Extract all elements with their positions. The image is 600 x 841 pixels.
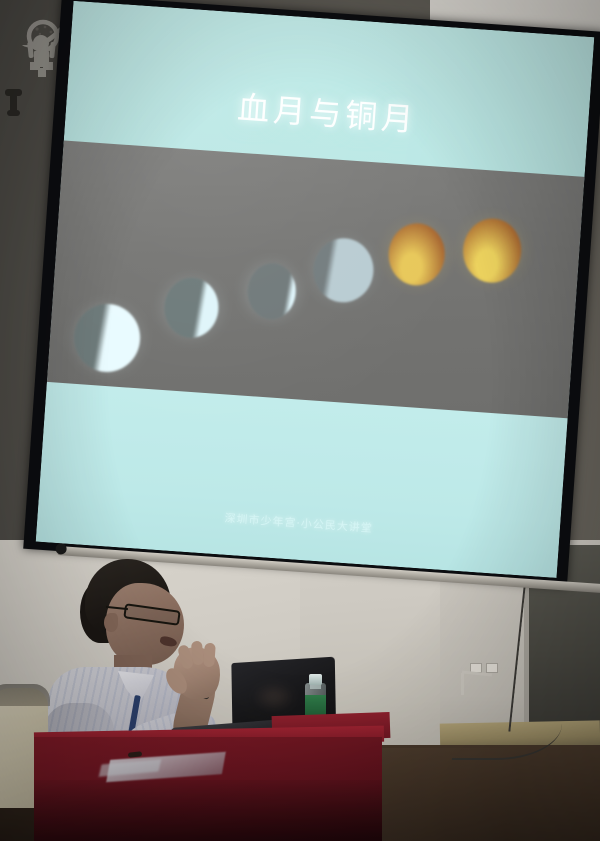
finger bbox=[191, 640, 204, 665]
ear bbox=[104, 613, 118, 632]
presentation-slide: 血月与铜月 深圳市少年宫·小公民大讲堂 bbox=[36, 1, 595, 578]
photo-scene: 血月与铜月 深圳市少年宫·小公民大讲堂 bbox=[0, 0, 600, 841]
water-bottle-label bbox=[305, 695, 326, 716]
laptop-lid-sheen bbox=[252, 682, 296, 712]
projection-screen-surface: 血月与铜月 深圳市少年宫·小公民大讲堂 bbox=[36, 1, 595, 578]
projection-screen-border: 血月与铜月 深圳市少年宫·小公民大讲堂 bbox=[23, 0, 600, 587]
water-bottle-cap[interactable] bbox=[309, 674, 322, 685]
outlet-conduit-vertical bbox=[461, 673, 464, 695]
table-shadow bbox=[34, 780, 382, 841]
wall-outlet-second[interactable] bbox=[486, 663, 498, 673]
finger bbox=[203, 643, 216, 668]
ceiling-hook bbox=[10, 93, 17, 113]
projection-screen-assembly: 血月与铜月 深圳市少年宫·小公民大讲堂 bbox=[62, 0, 600, 554]
chair-backrest bbox=[0, 684, 50, 706]
